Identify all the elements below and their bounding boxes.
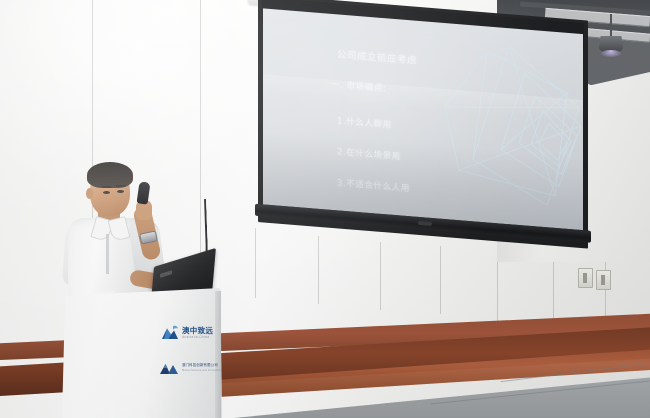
ear — [86, 188, 93, 199]
slide-vignette — [263, 8, 583, 230]
slide-surface: 公司成立前应考虑 一. 市场痛点: 1.什么人群用 2.在什么场景用 3.不适合… — [263, 8, 583, 230]
wall-outlet — [578, 268, 593, 288]
presentation-photo-scene: 公司成立前应考虑 一. 市场痛点: 1.什么人群用 2.在什么场景用 3.不适合… — [0, 0, 650, 418]
eyebrow — [102, 186, 112, 188]
eyebrow — [116, 185, 126, 187]
mountain-mark-icon — [158, 360, 180, 376]
pendant-light-rod — [610, 14, 612, 38]
projection-screen: 公司成立前应考虑 一. 市场痛点: 1.什么人群用 2.在什么场景用 3.不适合… — [258, 0, 588, 279]
podium-logo-en-text: Australia-China — [182, 335, 209, 339]
podium-sublogo-en-text: Macau Science and Innovation — [182, 369, 222, 372]
pendant-light-glow — [601, 50, 621, 57]
eye — [103, 191, 110, 194]
shirt-placket — [106, 234, 109, 274]
wall-seam — [255, 228, 256, 298]
mountain-mark-icon — [160, 324, 180, 342]
podium-primary-logo: 澳中致远 Australia-China — [160, 324, 216, 346]
wall-outlet — [596, 270, 611, 290]
podium-right-edge — [215, 291, 221, 418]
podium-secondary-logo: 澳门科技创新有限公司 Macau Science and Innovation — [158, 360, 216, 382]
hair — [87, 162, 133, 188]
podium-highlight — [62, 288, 114, 418]
eye — [117, 190, 124, 193]
podium-sublogo-cn-text: 澳门科技创新有限公司 — [182, 362, 218, 367]
